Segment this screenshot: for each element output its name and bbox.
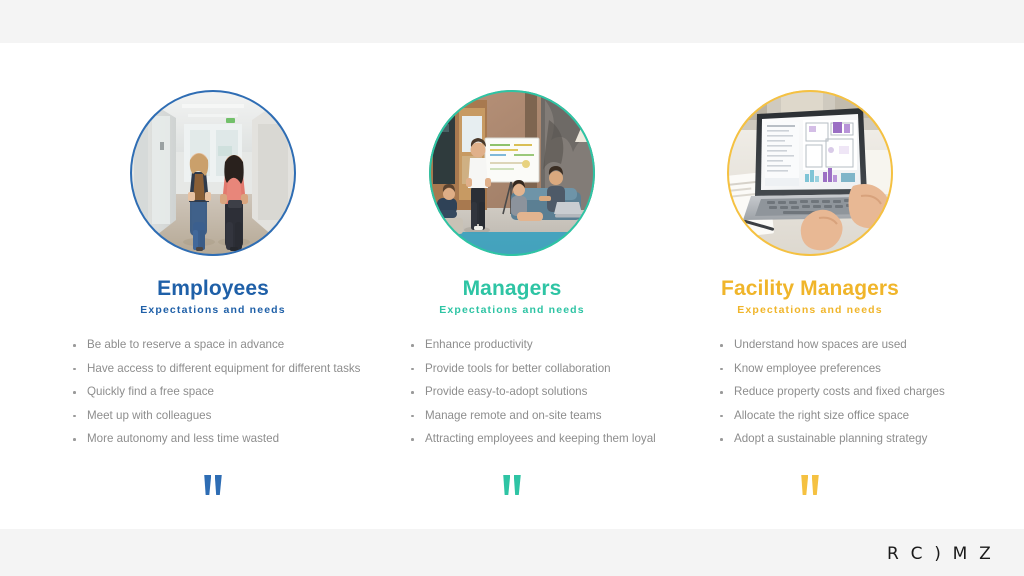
persona-subheading-employees: Expectations and needs bbox=[63, 304, 363, 316]
persona-heading-employees: Employees bbox=[63, 277, 363, 301]
photo-laptop-floorplan-image bbox=[727, 90, 893, 256]
top-band bbox=[0, 0, 1024, 43]
persona-bullet-list-facility-managers: Understand how spaces are used Know empl… bbox=[718, 339, 1018, 457]
list-item: Quickly find a free space bbox=[71, 386, 371, 398]
persona-column-facility-managers: Facility Managers Expectations and needs… bbox=[660, 43, 960, 529]
quote-mark-icon-managers bbox=[362, 475, 662, 495]
persona-photo-managers bbox=[429, 90, 595, 256]
roomz-logo: R C ) M Z bbox=[887, 543, 994, 565]
quote-mark-icon-facility-managers bbox=[660, 475, 960, 495]
list-item: More autonomy and less time wasted bbox=[71, 433, 371, 445]
persona-subheading-managers: Expectations and needs bbox=[362, 304, 662, 316]
list-item: Know employee preferences bbox=[718, 363, 1018, 375]
slide-canvas: Employees Expectations and needs Be able… bbox=[0, 0, 1024, 576]
list-item: Understand how spaces are used bbox=[718, 339, 1018, 351]
persona-column-managers: Managers Expectations and needs Enhance … bbox=[362, 43, 662, 529]
persona-bullet-list-employees: Be able to reserve a space in advance Ha… bbox=[71, 339, 371, 457]
persona-photo-facility-managers bbox=[727, 90, 893, 256]
persona-photo-employees bbox=[130, 90, 296, 256]
persona-heading-facility-managers: Facility Managers bbox=[660, 277, 960, 301]
persona-column-employees: Employees Expectations and needs Be able… bbox=[63, 43, 363, 529]
persona-subheading-facility-managers: Expectations and needs bbox=[660, 304, 960, 316]
roomz-logo-text: R C ) M Z bbox=[887, 546, 994, 563]
list-item: Meet up with colleagues bbox=[71, 410, 371, 422]
list-item: Allocate the right size office space bbox=[718, 410, 1018, 422]
photo-whiteboard-meeting-image bbox=[429, 90, 595, 256]
list-item: Be able to reserve a space in advance bbox=[71, 339, 371, 351]
persona-columns: Employees Expectations and needs Be able… bbox=[0, 43, 1024, 529]
list-item: Adopt a sustainable planning strategy bbox=[718, 433, 1018, 445]
list-item: Have access to different equipment for d… bbox=[71, 363, 371, 375]
bottom-band bbox=[0, 529, 1024, 576]
list-item: Reduce property costs and fixed charges bbox=[718, 386, 1018, 398]
persona-heading-managers: Managers bbox=[362, 277, 662, 301]
photo-office-corridor-image bbox=[130, 90, 296, 256]
quote-mark-icon-employees bbox=[63, 475, 363, 495]
